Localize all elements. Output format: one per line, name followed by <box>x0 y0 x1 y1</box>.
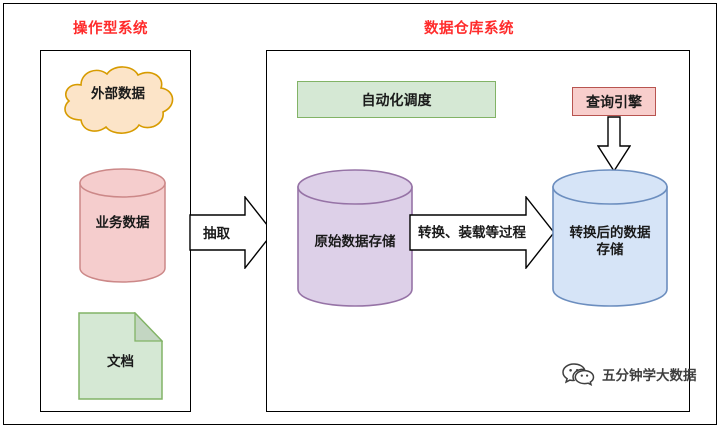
node-transformed-storage-label-line1: 转换后的数据 <box>551 225 669 242</box>
node-transformed-storage-label: 转换后的数据 存储 <box>551 225 669 259</box>
node-business-data[interactable]: 业务数据 <box>78 167 167 284</box>
panel-title-datawarehouse: 数据仓库系统 <box>424 17 514 38</box>
arrow-extract[interactable]: 抽取 <box>189 196 274 269</box>
wechat-icon <box>562 362 596 386</box>
node-automation-schedule[interactable]: 自动化调度 <box>297 81 496 118</box>
panel-title-operational: 操作型系统 <box>73 17 148 38</box>
node-external-data-label: 外部数据 <box>57 86 179 103</box>
node-query-engine[interactable]: 查询引擎 <box>572 87 656 116</box>
diagram-canvas: 操作型系统 数据仓库系统 外部数据 业务数据 文档 抽取 自动化调度 <box>0 0 721 431</box>
node-external-data[interactable]: 外部数据 <box>57 62 179 138</box>
node-query-engine-label: 查询引擎 <box>586 92 642 112</box>
watermark-text: 五分钟学大数据 <box>602 364 697 384</box>
node-document[interactable]: 文档 <box>78 312 163 400</box>
arrow-transform-load-label: 转换、装载等过程 <box>418 221 526 241</box>
node-business-data-label: 业务数据 <box>78 215 167 232</box>
node-raw-storage[interactable]: 原始数据存储 <box>296 168 414 308</box>
watermark: 五分钟学大数据 <box>562 362 697 386</box>
node-transformed-storage-label-line2: 存储 <box>551 242 669 259</box>
node-document-label: 文档 <box>78 354 163 371</box>
node-transformed-storage[interactable]: 转换后的数据 存储 <box>551 168 669 308</box>
node-raw-storage-label: 原始数据存储 <box>296 234 414 251</box>
arrow-transform-load[interactable]: 转换、装载等过程 <box>409 196 555 269</box>
node-automation-schedule-label: 自动化调度 <box>362 90 432 110</box>
arrow-query-down[interactable] <box>597 116 631 172</box>
arrow-extract-label: 抽取 <box>203 222 230 242</box>
